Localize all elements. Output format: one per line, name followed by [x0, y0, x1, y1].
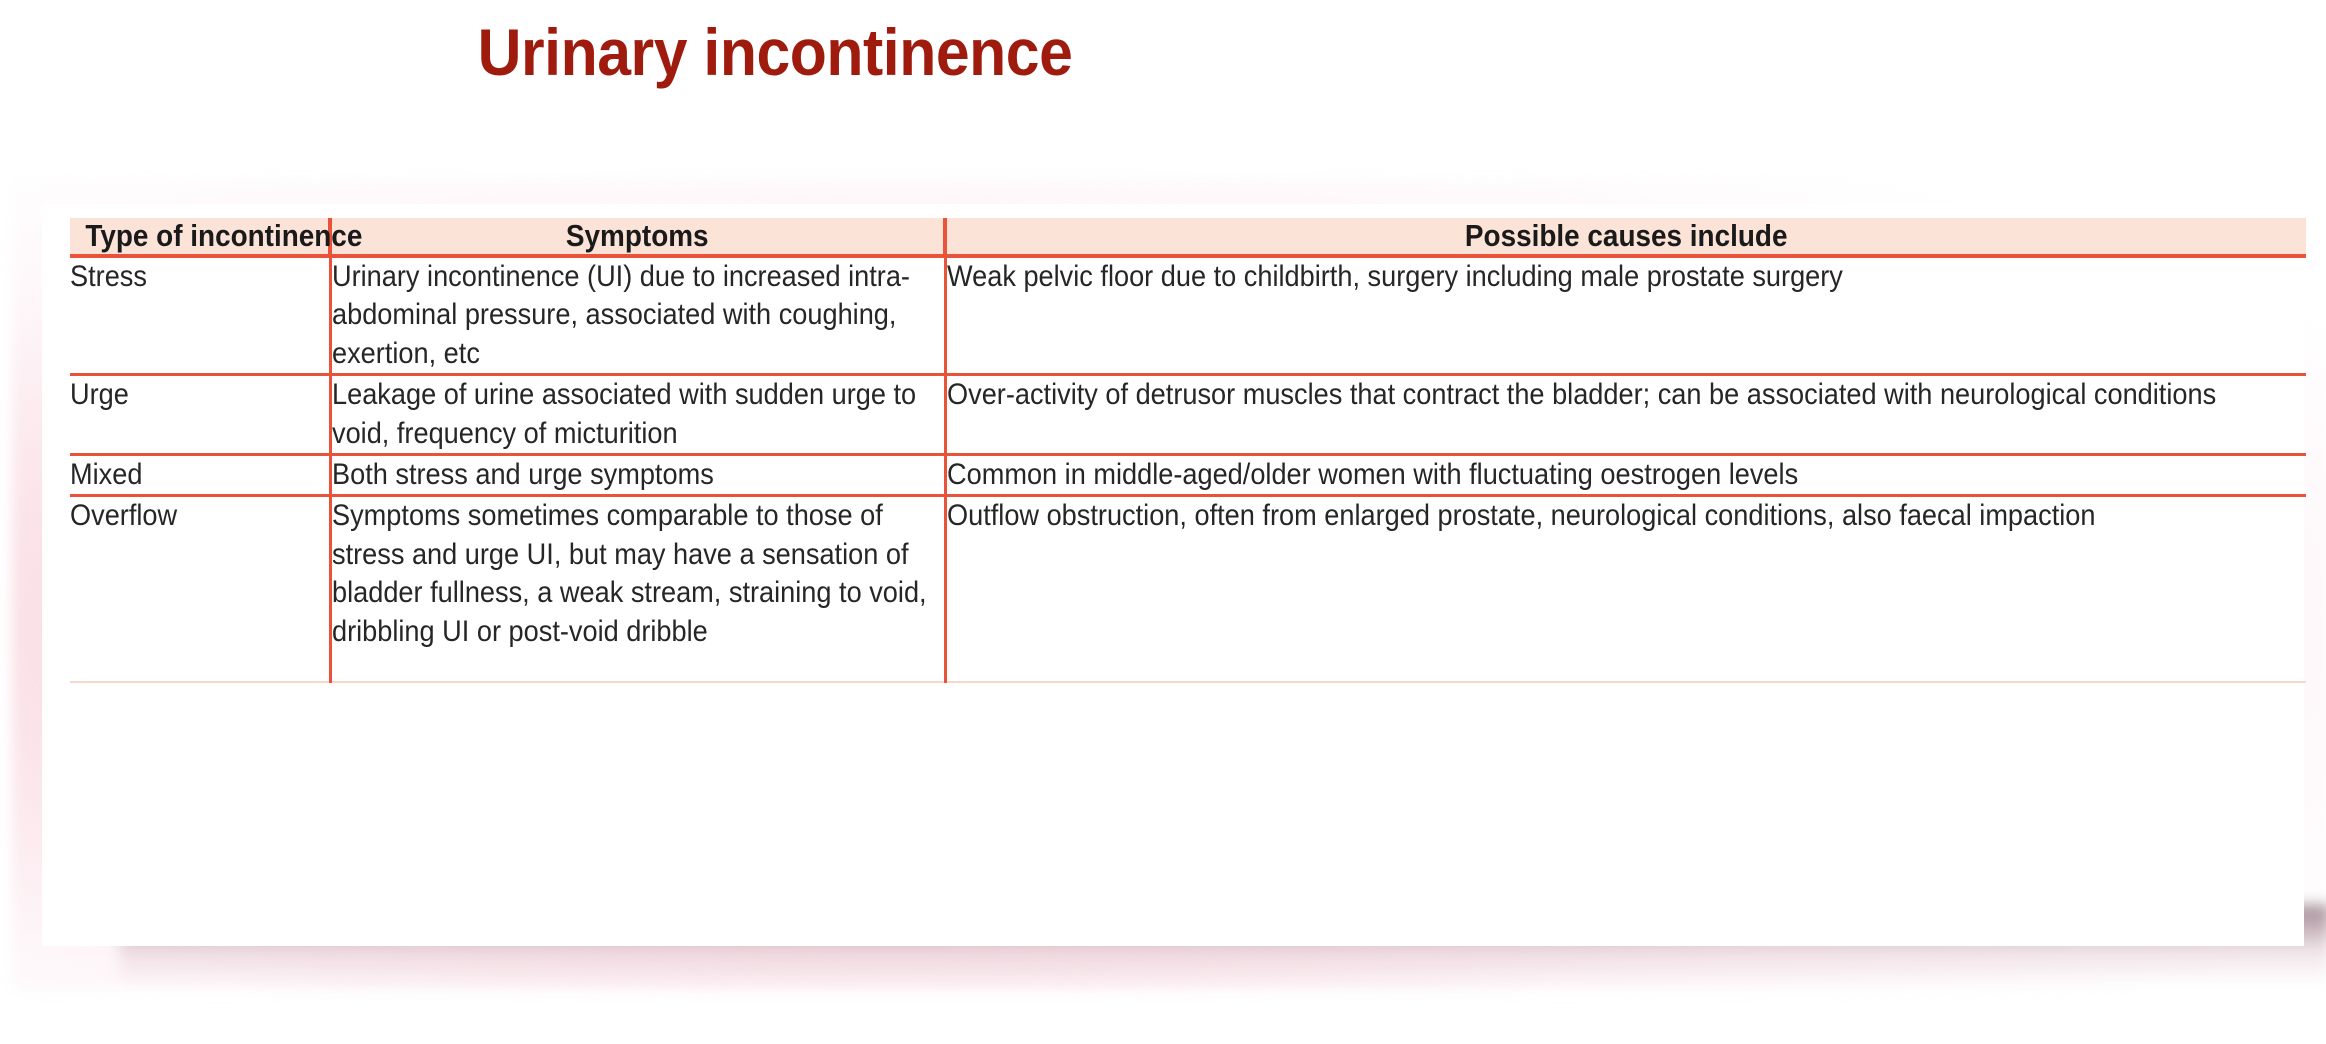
- cell-type: Mixed: [70, 454, 330, 495]
- cell-type-text: Stress: [70, 258, 329, 296]
- cell-type-text: Urge: [70, 376, 329, 414]
- table-row: Overflow Symptoms sometimes comparable t…: [70, 496, 2306, 682]
- cell-symptoms: Urinary incontinence (UI) due to increas…: [330, 256, 945, 375]
- cell-causes: Over-activity of detrusor muscles that c…: [945, 375, 2306, 455]
- table-card: Type of incontinence Symptoms Possible c…: [42, 204, 2304, 946]
- cell-causes-text: Weak pelvic floor due to childbirth, sur…: [947, 258, 2307, 296]
- cell-causes-text: Common in middle-aged/older women with f…: [947, 456, 2307, 494]
- table-header-row: Type of incontinence Symptoms Possible c…: [70, 218, 2306, 256]
- column-header-type: Type of incontinence: [70, 218, 330, 256]
- column-header-causes-label: Possible causes include: [1465, 218, 1788, 254]
- cell-causes: Outflow obstruction, often from enlarged…: [945, 496, 2306, 682]
- table-row: Mixed Both stress and urge symptoms Comm…: [70, 454, 2306, 495]
- cell-type-text: Overflow: [70, 497, 329, 535]
- cell-symptoms-text: Both stress and urge symptoms: [332, 456, 944, 494]
- cell-type: Overflow: [70, 496, 330, 682]
- cell-symptoms-text: Urinary incontinence (UI) due to increas…: [332, 258, 944, 373]
- cell-type: Urge: [70, 375, 330, 455]
- table-row: Urge Leakage of urine associated with su…: [70, 375, 2306, 455]
- cell-type: Stress: [70, 256, 330, 375]
- column-header-type-label: Type of incontinence: [85, 218, 362, 254]
- cell-causes-text: Over-activity of detrusor muscles that c…: [947, 376, 2307, 414]
- cell-causes-text: Outflow obstruction, often from enlarged…: [947, 497, 2307, 535]
- cell-symptoms-text: Symptoms sometimes comparable to those o…: [332, 497, 944, 651]
- cell-symptoms: Both stress and urge symptoms: [330, 454, 945, 495]
- incontinence-table: Type of incontinence Symptoms Possible c…: [70, 218, 2306, 683]
- cell-causes: Common in middle-aged/older women with f…: [945, 454, 2306, 495]
- page-title: Urinary incontinence: [62, 14, 1488, 90]
- column-header-symptoms: Symptoms: [330, 218, 945, 256]
- cell-symptoms-text: Leakage of urine associated with sudden …: [332, 376, 944, 453]
- cell-symptoms: Symptoms sometimes comparable to those o…: [330, 496, 945, 682]
- column-header-symptoms-label: Symptoms: [566, 218, 709, 254]
- cell-symptoms: Leakage of urine associated with sudden …: [330, 375, 945, 455]
- table-row: Stress Urinary incontinence (UI) due to …: [70, 256, 2306, 375]
- cell-type-text: Mixed: [70, 456, 329, 494]
- cell-causes: Weak pelvic floor due to childbirth, sur…: [945, 256, 2306, 375]
- column-header-causes: Possible causes include: [945, 218, 2306, 256]
